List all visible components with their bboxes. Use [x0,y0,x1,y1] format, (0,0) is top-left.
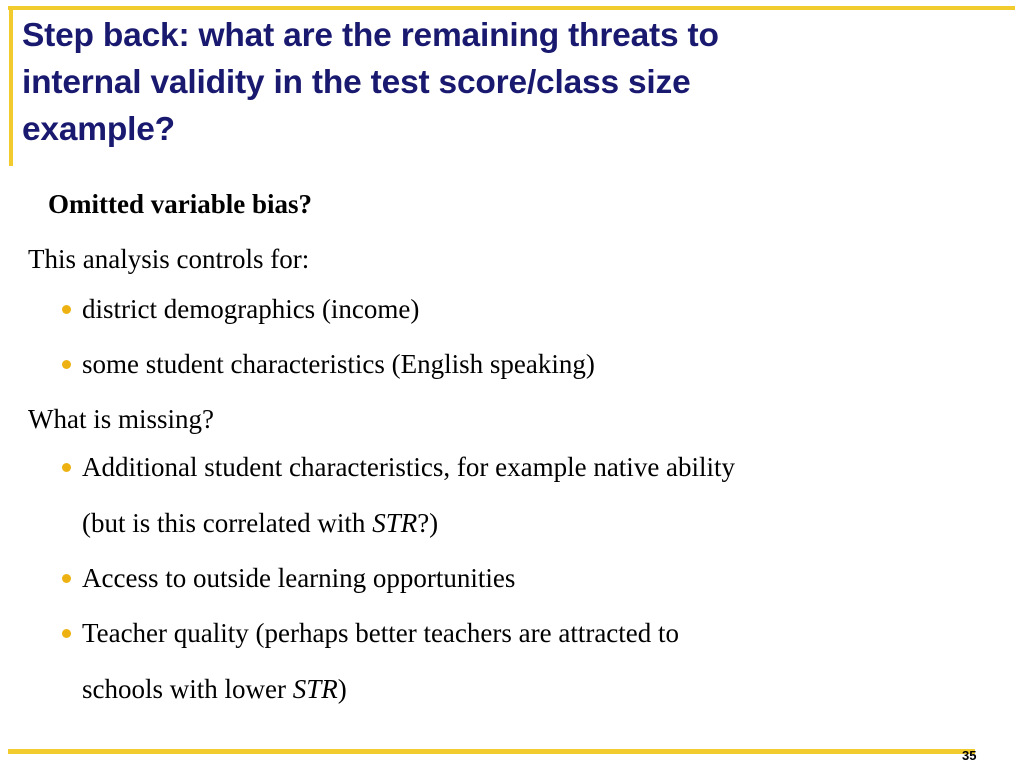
slide-title-line-1: Step back: what are the remaining threat… [22,12,1007,59]
bullet-continuation-line: (but is this correlated with STR?) [82,505,1024,541]
bullet-dot-icon [62,360,71,369]
slide-title-line-2: internal validity in the test score/clas… [22,59,1007,106]
bottom-accent-rule [8,749,975,754]
continuation-text-pre: (but is this correlated with [82,508,372,538]
bullet-item-additional-student-characteristics: Additional student characteristics, for … [62,449,1024,541]
left-accent-rule [9,7,13,166]
bullet-dot-icon [62,574,71,583]
bullet-text: Additional student characteristics, for … [82,452,735,482]
slide-canvas: Step back: what are the remaining threat… [0,0,1024,768]
bullet-item-teacher-quality: Teacher quality (perhaps better teachers… [62,615,1024,707]
body-heading-omitted-variable-bias: Omitted variable bias? [48,186,1024,222]
top-accent-rule [8,6,1015,10]
continuation-text-post: ) [338,674,347,704]
variable-str: STR [372,508,417,538]
bullet-text: Access to outside learning opportunities [82,563,515,593]
slide-title: Step back: what are the remaining threat… [22,12,1007,153]
page-number: 35 [962,748,976,763]
slide-title-line-3: example? [22,106,1007,153]
variable-str: STR [293,674,338,704]
body-line-what-is-missing: What is missing? [28,401,1024,437]
bullet-item-access-outside-learning: Access to outside learning opportunities [62,560,1024,596]
continuation-text-post: ?) [417,508,438,538]
bullet-dot-icon [62,305,71,314]
bullet-dot-icon [62,463,71,472]
continuation-text-pre: schools with lower [82,674,293,704]
bullet-item-student-characteristics: some student characteristics (English sp… [62,346,1024,382]
slide-body: Omitted variable bias? This analysis con… [0,186,1024,726]
bullet-continuation-line: schools with lower STR) [82,671,1024,707]
bullet-text: some student characteristics (English sp… [82,349,595,379]
bullet-text: Teacher quality (perhaps better teachers… [82,618,679,648]
bullet-text: district demographics (income) [82,294,419,324]
body-line-controls-for: This analysis controls for: [28,241,1024,277]
bullet-item-district-demographics: district demographics (income) [62,291,1024,327]
bullet-dot-icon [62,629,71,638]
